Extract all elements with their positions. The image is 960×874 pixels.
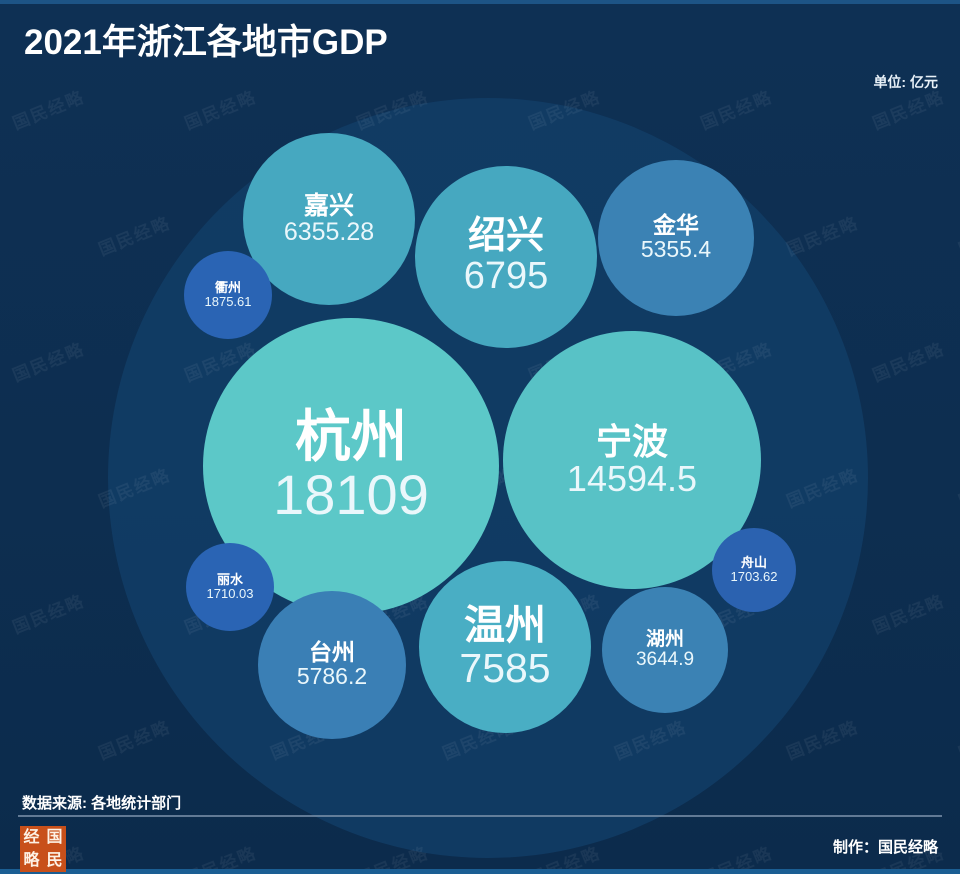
brand-seal-logo: 经 国 略 民 [20,826,66,872]
bubble-value: 5786.2 [297,665,367,689]
bubble-name: 丽水 [217,573,243,587]
bubble-name: 嘉兴 [304,193,354,219]
bubble-value: 18109 [273,466,429,524]
bubble-value: 5355.4 [641,238,711,262]
bubble-value: 1703.62 [731,570,778,584]
bubble-name: 台州 [309,641,355,665]
bubble-value: 14594.5 [567,460,697,497]
top-edge-bar [0,0,960,4]
data-source-label: 数据来源: 各地统计部门 [22,792,181,813]
bubble-value: 1710.03 [207,587,254,601]
bubble-zhoushan[interactable]: 舟山 1703.62 [712,528,796,612]
footer-divider [18,815,942,817]
bubble-name: 杭州 [295,408,407,466]
bottom-edge-bar [0,869,960,874]
bubble-name: 金华 [653,214,699,238]
seal-char: 经 [20,826,43,849]
bubble-value: 3644.9 [636,650,694,670]
infographic-canvas: 国民经略国民经略国民经略国民经略国民经略国民经略国民经略国民经略国民经略国民经略… [0,0,960,874]
bubble-name: 温州 [464,604,546,647]
bubble-taizhou[interactable]: 台州 5786.2 [258,591,406,739]
unit-label: 单位: 亿元 [873,72,938,92]
bubble-name: 宁波 [596,423,668,460]
credit-label: 制作：国民经略 [833,836,938,857]
page-title: 2021年浙江各地市GDP [24,14,388,65]
bubble-wenzhou[interactable]: 温州 7585 [419,561,591,733]
seal-char: 国 [43,826,66,849]
bubble-value: 1875.61 [205,295,252,309]
bubble-value: 6795 [464,257,549,297]
bubble-shaoxing[interactable]: 绍兴 6795 [415,166,597,348]
bubble-value: 7585 [459,647,550,690]
bubble-name: 湖州 [646,630,684,650]
bubble-lishui[interactable]: 丽水 1710.03 [186,543,274,631]
bubble-huzhou[interactable]: 湖州 3644.9 [602,587,728,713]
bubble-name: 衢州 [215,281,241,295]
bubble-value: 6355.28 [284,219,374,245]
seal-char: 略 [20,849,43,872]
bubble-name: 舟山 [741,556,767,570]
bubble-quzhou[interactable]: 衢州 1875.61 [184,251,272,339]
bubble-name: 绍兴 [468,217,544,257]
seal-char: 民 [43,849,66,872]
bubble-jinhua[interactable]: 金华 5355.4 [598,160,754,316]
